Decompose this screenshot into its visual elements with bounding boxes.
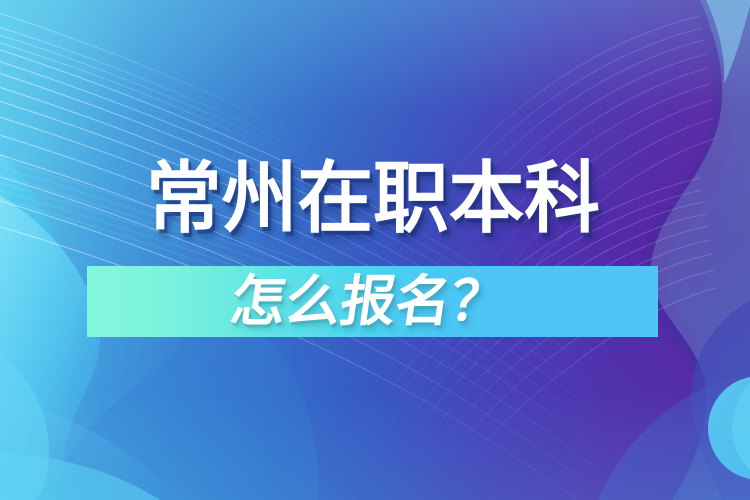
promo-banner: 常州在职本科 怎么报名？ (0, 0, 750, 500)
page-subtitle: 怎么报名？ (227, 270, 511, 332)
page-title: 常州在职本科 (146, 156, 600, 242)
line-swirl-pattern (0, 0, 750, 500)
